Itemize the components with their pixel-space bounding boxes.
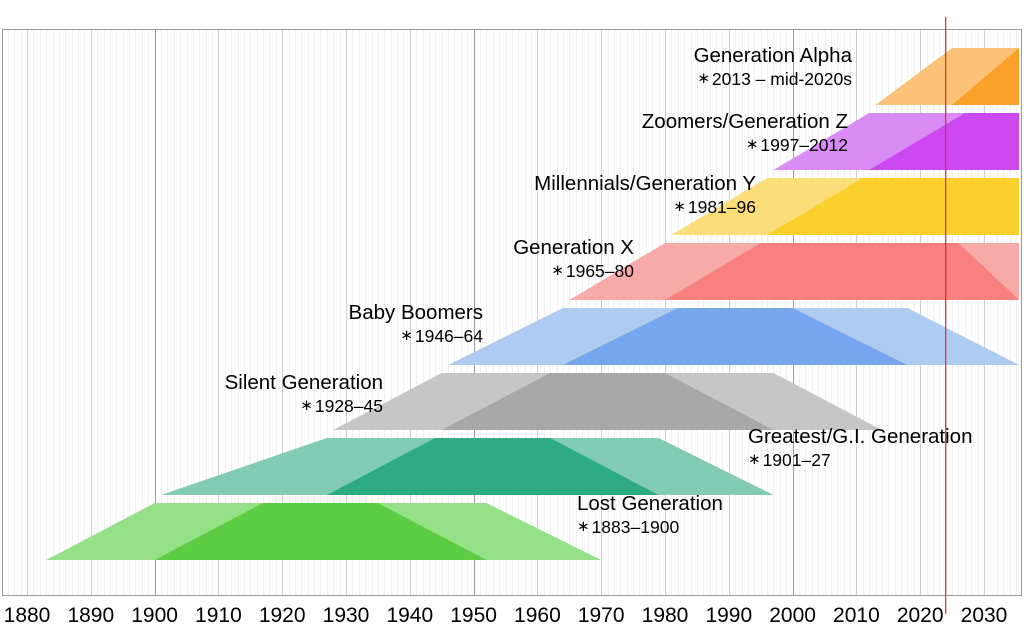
x-tick-label: 1970 xyxy=(578,604,625,628)
x-tick-label: 2020 xyxy=(897,604,944,628)
generation-name: Zoomers/Generation Z xyxy=(642,110,848,134)
generation-label: Generation X∗1965–80 xyxy=(513,236,634,282)
generation-label: Baby Boomers∗1946–64 xyxy=(349,301,483,347)
x-tick-label: 1920 xyxy=(259,604,306,628)
x-tick-label: 1950 xyxy=(450,604,497,628)
generation-birth-span: ∗1981–96 xyxy=(534,196,756,218)
generation-birth-span: ∗1901–27 xyxy=(748,449,972,471)
x-tick-label: 2000 xyxy=(769,604,816,628)
birth-asterisk-icon: ∗ xyxy=(746,134,759,155)
x-tick-label: 1900 xyxy=(131,604,178,628)
x-tick-label: 1890 xyxy=(67,604,114,628)
x-tick-label: 1960 xyxy=(514,604,561,628)
x-tick-label: 1910 xyxy=(195,604,242,628)
generation-name: Baby Boomers xyxy=(349,301,483,325)
x-tick-label: 1940 xyxy=(386,604,433,628)
x-tick-label: 2030 xyxy=(961,604,1008,628)
x-tick-label: 1880 xyxy=(4,604,51,628)
generation-label: Greatest/G.I. Generation∗1901–27 xyxy=(748,425,972,471)
generation-birth-span: ∗2013 – mid-2020s xyxy=(694,68,852,90)
birth-asterisk-icon: ∗ xyxy=(673,196,686,217)
x-tick-label: 1990 xyxy=(705,604,752,628)
generations-timeline-chart: Generation Alpha 2013 – mid-2020sZoomers… xyxy=(0,0,1024,640)
generation-name: Millennials/Generation Y xyxy=(534,172,756,196)
generation-label: Generation Alpha∗2013 – mid-2020s xyxy=(694,44,852,90)
generation-label: Zoomers/Generation Z∗1997–2012 xyxy=(642,110,848,156)
x-tick-label: 1980 xyxy=(642,604,689,628)
generation-birth-span: ∗1883–1900 xyxy=(577,516,723,538)
generation-birth-span: ∗1997–2012 xyxy=(642,134,848,156)
generation-birth-span: ∗1928–45 xyxy=(225,395,383,417)
generation-label: Silent Generation∗1928–45 xyxy=(225,371,383,417)
generation-label: Millennials/Generation Y∗1981–96 xyxy=(534,172,756,218)
generation-name: Silent Generation xyxy=(225,371,383,395)
generation-name: Generation Alpha xyxy=(694,44,852,68)
generation-name: Greatest/G.I. Generation xyxy=(748,425,972,449)
birth-asterisk-icon: ∗ xyxy=(577,516,590,537)
birth-asterisk-icon: ∗ xyxy=(400,325,413,346)
birth-asterisk-icon: ∗ xyxy=(748,449,761,470)
generation-birth-span: ∗1946–64 xyxy=(349,325,483,347)
birth-asterisk-icon: ∗ xyxy=(551,260,564,281)
x-tick-label: 1930 xyxy=(323,604,370,628)
generation-label: Lost Generation∗1883–1900 xyxy=(577,492,723,538)
x-tick-label: 2010 xyxy=(833,604,880,628)
generation-name: Lost Generation xyxy=(577,492,723,516)
birth-asterisk-icon: ∗ xyxy=(697,68,710,89)
generation-name: Generation X xyxy=(513,236,634,260)
birth-asterisk-icon: ∗ xyxy=(300,395,313,416)
generation-birth-span: ∗1965–80 xyxy=(513,260,634,282)
